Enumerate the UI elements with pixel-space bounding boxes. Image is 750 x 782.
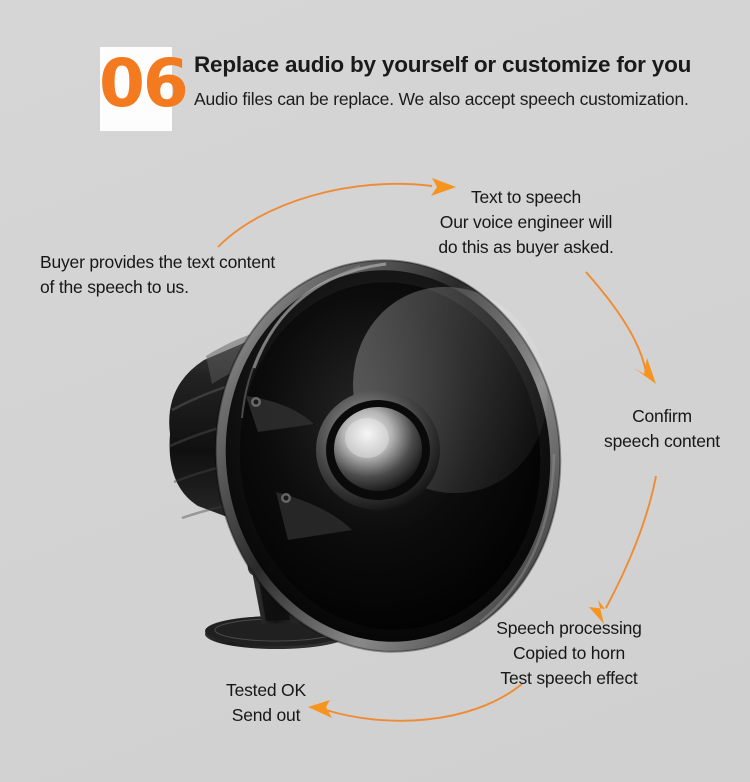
slide-root: 06 Replace audio by yourself or customiz…: [0, 0, 750, 782]
step-label-processing: Speech processing Copied to horn Test sp…: [463, 616, 675, 691]
arrow-tts-to-confirm: [586, 272, 656, 384]
arrow-confirm-to-processing: [589, 476, 656, 624]
step-label-send-out: Tested OK Send out: [190, 678, 342, 728]
step-label-text-to-speech: Text to speech Our voice engineer will d…: [420, 185, 632, 260]
step-label-confirm: Confirm speech content: [578, 404, 746, 454]
step-label-input: Buyer provides the text content of the s…: [40, 250, 275, 300]
horn-speaker-image: [150, 250, 570, 660]
workflow-diagram: Buyer provides the text content of the s…: [0, 0, 750, 782]
